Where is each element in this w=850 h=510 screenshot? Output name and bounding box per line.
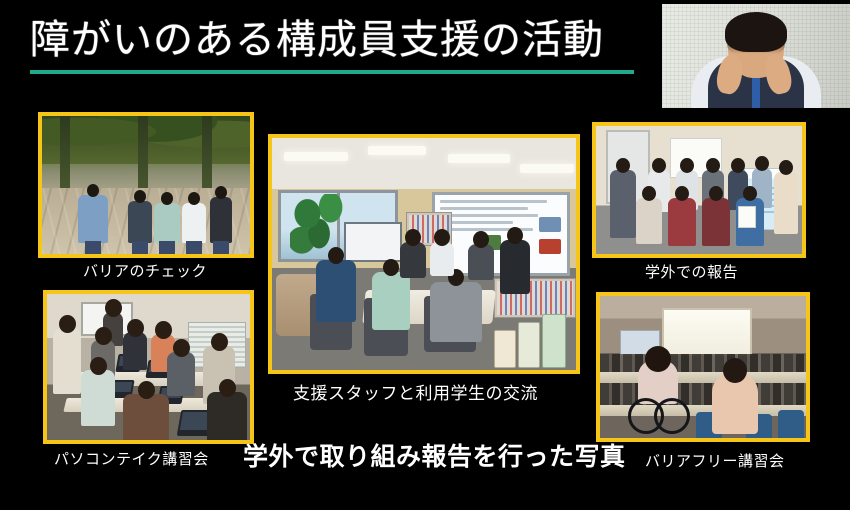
sign-language-interpreter-video[interactable] (662, 4, 850, 108)
photo-pc-take[interactable] (43, 290, 254, 444)
photo-barrier-check-image (42, 116, 250, 254)
hall-desk (600, 372, 806, 383)
audience-row (600, 383, 806, 405)
person-striped-shirt (78, 195, 108, 243)
person-seated-front (636, 198, 662, 244)
person-seated (430, 242, 454, 276)
tree-trunk (60, 116, 70, 199)
wheelchair-user-head (645, 346, 671, 372)
person-foreground (207, 392, 247, 440)
page-title: 障がいのある構成員支援の活動 (30, 18, 650, 62)
person-wheelchair-user (468, 244, 494, 280)
certificate (738, 206, 756, 228)
person-white-shirt (182, 203, 206, 243)
person-standing (500, 240, 530, 294)
person-dark-shirt (128, 201, 152, 243)
tree-trunk (202, 116, 212, 199)
projector-screen-small (344, 222, 402, 262)
chair (778, 410, 804, 438)
interpreter-hair (725, 12, 787, 52)
person-seated (123, 332, 147, 370)
photo-barrier-check[interactable] (38, 112, 254, 258)
ceiling-light (284, 152, 348, 161)
photo-external-report[interactable] (592, 122, 806, 258)
binder (494, 330, 516, 368)
ceiling-light (368, 146, 426, 155)
person-foreground (712, 374, 758, 434)
person-seated (400, 242, 426, 278)
caption-pc-take: パソコンテイク講習会 (54, 448, 209, 469)
person-standing (774, 172, 798, 234)
tree-trunk (138, 116, 148, 199)
wheelchair-user (632, 360, 684, 434)
title-block: 障がいのある構成員支援の活動 (30, 18, 650, 74)
person-presenter (316, 260, 356, 322)
person-foreground (123, 394, 169, 440)
caption-barrier-check: バリアのチェック (83, 260, 207, 281)
audience-row (600, 354, 806, 372)
caption-staff-exchange: 支援スタッフと利用学生の交流 (293, 379, 538, 404)
interpreter-tie (752, 74, 760, 108)
caption-external-report: 学外での報告 (645, 261, 738, 282)
person-seated (372, 272, 410, 330)
person-light-jacket (154, 203, 180, 243)
photo-barrier-free-image (600, 296, 806, 438)
title-underline-rule (30, 70, 634, 74)
projection-screen (662, 308, 752, 356)
binder (542, 314, 566, 368)
photo-staff-exchange-image (272, 138, 576, 370)
ceiling-light (448, 154, 510, 163)
overlay-headline: 学外で取り組み報告を行った写真 (243, 437, 626, 473)
photo-external-report-image (596, 126, 802, 254)
person-standing-instructor (53, 328, 81, 394)
binder (518, 322, 540, 368)
photo-staff-exchange[interactable] (268, 134, 580, 374)
person-black-shirt (210, 197, 232, 243)
photo-pc-take-image (47, 294, 250, 440)
person-seated-back (430, 282, 482, 342)
caption-barrier-free: バリアフリー講習会 (645, 450, 785, 471)
person-standing (610, 170, 636, 238)
photo-barrier-free[interactable] (596, 292, 810, 442)
person-seated (81, 370, 115, 426)
wheelchair-wheel (654, 398, 690, 434)
ceiling-light (520, 164, 574, 173)
person-seated (167, 352, 195, 396)
person-seated-front (668, 198, 696, 246)
person-seated-front (702, 198, 730, 246)
presentation-slide: 障がいのある構成員支援の活動 バリアのチェック (0, 0, 850, 510)
